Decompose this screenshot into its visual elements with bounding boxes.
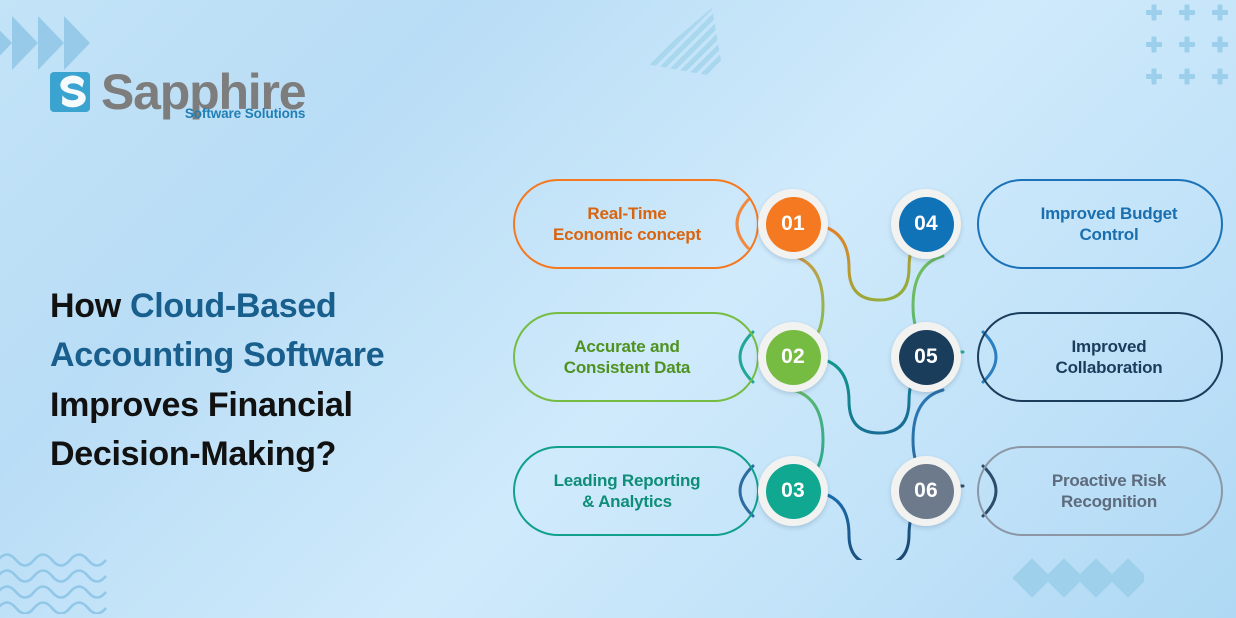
step-02-line2: Consistent Data (564, 358, 690, 377)
step-badge-03[interactable]: 03 (758, 456, 828, 526)
step-03-line1: Leading Reporting (554, 471, 701, 490)
step-card-01-label: Real-Time Economic concept (553, 203, 701, 246)
step-04-line1: Improved Budget (1041, 204, 1178, 223)
headline-line-4: Decision-Making? (50, 435, 336, 473)
headline-line-2-accent: Accounting Software (50, 336, 384, 374)
step-badge-01[interactable]: 01 (758, 189, 828, 259)
headline-line-1-plain: How (50, 287, 130, 325)
step-badge-06-number: 06 (899, 464, 954, 519)
step-card-04[interactable]: Improved Budget Control (977, 179, 1223, 269)
step-badge-06[interactable]: 06 (891, 456, 961, 526)
striped-triangle-icon (640, 2, 732, 86)
process-diagram: Real-Time Economic concept 01 04 Improve… (505, 160, 1231, 560)
plus-grid-icon (1122, 4, 1234, 86)
step-row-2: Accurate and Consistent Data 02 05 Impro… (505, 304, 1231, 410)
step-card-03-label: Leading Reporting & Analytics (554, 470, 701, 513)
step-05-line2: Collaboration (1056, 358, 1163, 377)
step-05-line1: Improved (1072, 337, 1147, 356)
headline-line-3: Improves Financial (50, 386, 353, 424)
wave-lines-icon (0, 548, 126, 614)
step-badge-02[interactable]: 02 (758, 322, 828, 392)
step-card-03[interactable]: Leading Reporting & Analytics (513, 446, 759, 536)
step-badge-01-number: 01 (766, 197, 821, 252)
step-badge-05[interactable]: 05 (891, 322, 961, 392)
step-row-1: Real-Time Economic concept 01 04 Improve… (505, 171, 1231, 277)
step-03-line2: & Analytics (582, 492, 672, 511)
step-badge-05-number: 05 (899, 330, 954, 385)
chevrons-icon (0, 14, 96, 72)
step-card-06[interactable]: Proactive Risk Recognition (977, 446, 1223, 536)
step-01-line1: Real-Time (587, 204, 666, 223)
step-01-line2: Economic concept (553, 225, 701, 244)
step-card-02[interactable]: Accurate and Consistent Data (513, 312, 759, 402)
step-badge-04-number: 04 (899, 197, 954, 252)
sapphire-s-logo-icon (50, 66, 94, 118)
step-badge-04[interactable]: 04 (891, 189, 961, 259)
step-02-line1: Accurate and (574, 337, 679, 356)
logo-tagline: Software Solutions (185, 106, 305, 121)
step-card-05[interactable]: Improved Collaboration (977, 312, 1223, 402)
headline-line-1-accent: Cloud-Based (130, 287, 336, 325)
step-row-3: Leading Reporting & Analytics 03 06 Proa… (505, 438, 1231, 544)
step-card-04-label: Improved Budget Control (1041, 203, 1178, 246)
page-title: How Cloud-Based Accounting Software Impr… (50, 282, 520, 479)
brand-logo: Sapphire Software Solutions (50, 66, 305, 118)
step-badge-03-number: 03 (766, 464, 821, 519)
step-card-01[interactable]: Real-Time Economic concept (513, 179, 759, 269)
step-badge-02-number: 02 (766, 330, 821, 385)
step-04-line2: Control (1079, 225, 1138, 244)
step-card-02-label: Accurate and Consistent Data (564, 336, 690, 379)
step-06-line2: Recognition (1061, 492, 1157, 511)
step-card-06-label: Proactive Risk Recognition (1052, 470, 1166, 513)
step-card-05-label: Improved Collaboration (1056, 336, 1163, 379)
step-06-line1: Proactive Risk (1052, 471, 1166, 490)
diamond-row-icon (1012, 552, 1144, 614)
